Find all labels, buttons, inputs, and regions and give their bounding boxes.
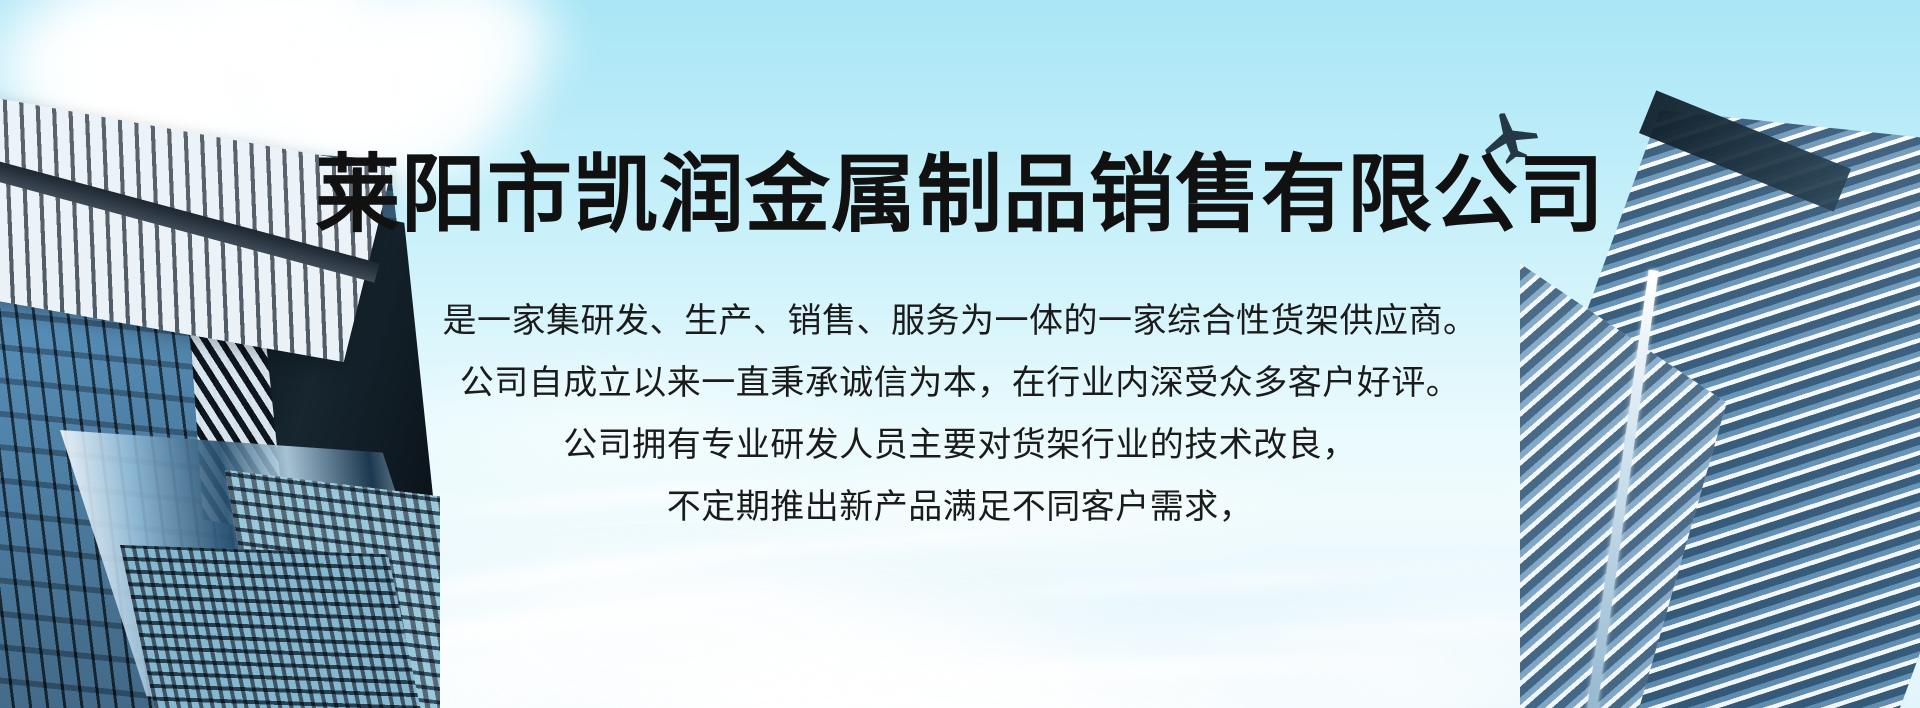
company-hero-banner: 莱阳市凯润金属制品销售有限公司 是一家集研发、生产、销售、服务为一体的一家综合性… (0, 0, 1920, 708)
tagline-line-2: 公司自成立以来一直秉承诚信为本，在行业内深受众多客户好评。 (0, 352, 1920, 414)
banner-text-block: 莱阳市凯润金属制品销售有限公司 是一家集研发、生产、销售、服务为一体的一家综合性… (0, 0, 1920, 708)
tagline-line-3: 公司拥有专业研发人员主要对货架行业的技术改良， (0, 414, 1920, 476)
page-title: 莱阳市凯润金属制品销售有限公司 (0, 150, 1920, 242)
tagline-line-1: 是一家集研发、生产、销售、服务为一体的一家综合性货架供应商。 (0, 290, 1920, 352)
tagline-line-4: 不定期推出新产品满足不同客户需求， (0, 476, 1920, 538)
tagline-paragraph: 是一家集研发、生产、销售、服务为一体的一家综合性货架供应商。 公司自成立以来一直… (0, 290, 1920, 538)
